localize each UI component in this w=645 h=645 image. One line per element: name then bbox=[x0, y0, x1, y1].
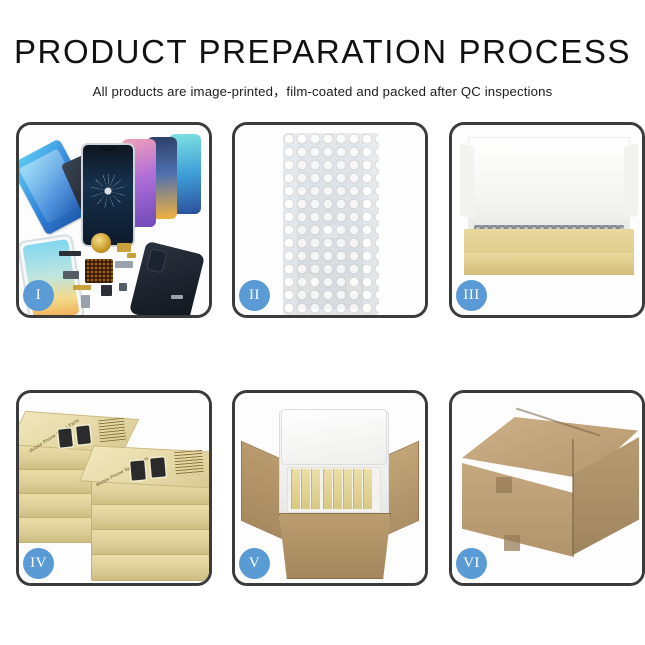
kraft-box-front-4 bbox=[91, 554, 209, 581]
kraft-label-lines-a bbox=[98, 418, 126, 443]
packed-box-3 bbox=[311, 469, 320, 509]
step-badge-6: VI bbox=[456, 548, 487, 579]
step-panel-4: Mobile Phone Spare Parts Mobile Phone Sp… bbox=[16, 390, 212, 586]
part-speaker bbox=[63, 271, 79, 279]
step-panel-2: II bbox=[232, 122, 428, 318]
carton-body bbox=[279, 513, 391, 579]
kraft-label-screen-b2 bbox=[150, 457, 166, 477]
part-connector-1 bbox=[115, 261, 133, 268]
steps-grid: I II bbox=[0, 0, 645, 645]
crack-pattern bbox=[91, 174, 125, 208]
lid-flap-left bbox=[460, 143, 474, 218]
lid-flap-right bbox=[624, 143, 638, 218]
packed-box-6 bbox=[343, 469, 352, 509]
box-lid bbox=[468, 137, 630, 233]
chip-array-part bbox=[85, 259, 113, 283]
step-badge-3: III bbox=[456, 280, 487, 311]
part-flex-1 bbox=[73, 285, 91, 290]
packed-box-4 bbox=[323, 469, 332, 509]
part-bar-1 bbox=[59, 251, 81, 256]
box-base bbox=[464, 229, 634, 275]
packed-box-8 bbox=[363, 469, 372, 509]
phone-back-housing bbox=[129, 241, 205, 315]
coil-part bbox=[91, 233, 111, 253]
packed-box-2 bbox=[301, 469, 310, 509]
step-panel-3: III bbox=[449, 122, 645, 318]
kraft-label-screen-b1 bbox=[130, 460, 146, 480]
carton-tape-lower bbox=[504, 535, 520, 551]
packed-box-5 bbox=[333, 469, 342, 509]
part-sim-tray bbox=[81, 295, 90, 308]
phone-notch bbox=[99, 147, 117, 151]
carton-tape-upper bbox=[496, 477, 512, 493]
kraft-box-front-2 bbox=[91, 504, 209, 531]
camera-module bbox=[146, 248, 168, 273]
step-badge-2: II bbox=[239, 280, 270, 311]
step-panel-6: VI bbox=[449, 390, 645, 586]
part-bracket-1 bbox=[117, 243, 131, 252]
foam-lid bbox=[281, 409, 387, 465]
kraft-label-screen-a1 bbox=[58, 428, 73, 447]
step-badge-4: IV bbox=[23, 548, 54, 579]
part-screw-plate bbox=[119, 283, 127, 291]
kraft-label-screen-a2 bbox=[76, 425, 91, 444]
step-badge-5: V bbox=[239, 548, 270, 579]
phone-cracked-screen bbox=[81, 143, 135, 247]
kraft-label-lines-b bbox=[174, 450, 204, 476]
carton-vertical-seam bbox=[572, 439, 574, 555]
packed-box-7 bbox=[353, 469, 362, 509]
step-panel-1: I bbox=[16, 122, 212, 318]
step-panel-5: V bbox=[232, 390, 428, 586]
bubble-wrap-icon bbox=[283, 133, 379, 315]
kraft-box-front-3 bbox=[91, 529, 209, 556]
step-badge-1: I bbox=[23, 280, 54, 311]
part-button bbox=[101, 285, 112, 296]
part-tool bbox=[171, 295, 183, 299]
part-contact bbox=[127, 253, 136, 258]
product-preparation-infographic: PRODUCT PREPARATION PROCESS All products… bbox=[0, 0, 645, 645]
packed-box-1 bbox=[291, 469, 300, 509]
box-front-panel bbox=[464, 253, 634, 275]
